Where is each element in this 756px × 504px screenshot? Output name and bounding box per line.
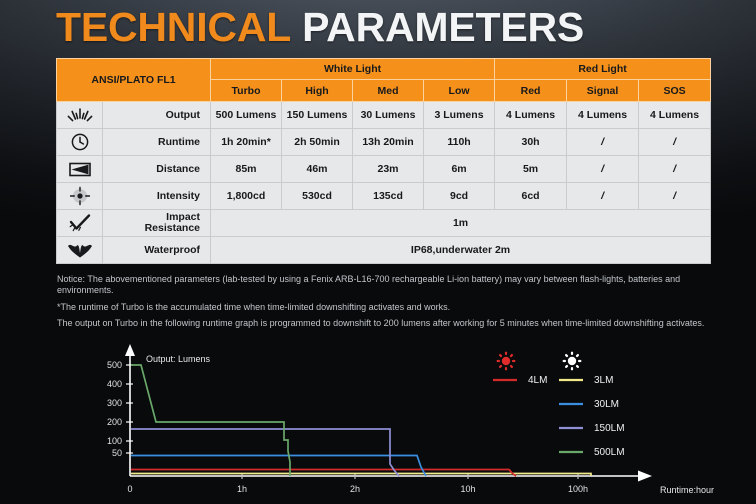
row-label-runtime: Runtime (103, 129, 211, 156)
impact-resistance-icon (57, 210, 103, 237)
white-sun-icon (563, 352, 582, 371)
cell-runtime-signal: / (567, 129, 639, 156)
y-tick-400: 400 (107, 379, 122, 389)
cell-intensity-turbo: 1,800cd (211, 183, 282, 210)
cell-distance-signal: / (567, 156, 639, 183)
cell-intensity-med: 135cd (353, 183, 424, 210)
notice-line-3: The output on Turbo in the following run… (57, 318, 713, 329)
column-header-signal: Signal (567, 80, 639, 102)
cell-intensity-signal: / (567, 183, 639, 210)
title-part-technical: TECHNICAL (56, 4, 291, 50)
cell-intensity-high: 530cd (282, 183, 353, 210)
y-tick-500: 500 (107, 360, 122, 370)
cell-impact-resistance-value: 1m (211, 210, 711, 237)
column-header-turbo: Turbo (211, 80, 282, 102)
table-row: Waterproof IP68,underwater 2m (57, 237, 711, 264)
row-label-impact-resistance: Impact Resistance (103, 210, 211, 237)
y-tick-200: 200 (107, 417, 122, 427)
cell-distance-sos: / (639, 156, 711, 183)
y-tick-300: 300 (107, 398, 122, 408)
cell-output-sos: 4 Lumens (639, 102, 711, 129)
cell-output-turbo: 500 Lumens (211, 102, 282, 129)
cell-intensity-red: 6cd (495, 183, 567, 210)
cell-runtime-high: 2h 50min (282, 129, 353, 156)
cell-intensity-low: 9cd (424, 183, 495, 210)
cell-distance-red: 5m (495, 156, 567, 183)
cell-distance-med: 23m (353, 156, 424, 183)
table-row: Runtime 1h 20min* 2h 50min 13h 20min 110… (57, 129, 711, 156)
corner-label: ANSI/PLATO FL1 (57, 59, 211, 102)
column-header-high: High (282, 80, 353, 102)
row-label-waterproof: Waterproof (103, 237, 211, 264)
notice-line-2: *The runtime of Turbo is the accumulated… (57, 302, 713, 313)
column-header-med: Med (353, 80, 424, 102)
cell-output-signal: 4 Lumens (567, 102, 639, 129)
x-tick-1h: 1h (237, 484, 247, 494)
chart-series-500lm (131, 365, 290, 476)
intensity-crosshair-icon (57, 183, 103, 210)
red-sun-icon (497, 352, 516, 371)
table-group-header-row: ANSI/PLATO FL1 White Light Red Light (57, 59, 711, 80)
row-label-intensity: Intensity (103, 183, 211, 210)
notice-block: Notice: The abovementioned parameters (l… (57, 274, 713, 334)
y-tick-50: 50 (112, 448, 122, 458)
legend-label-3lm: 3LM (594, 375, 613, 386)
chart-y-axis-title: Output: Lumens (146, 354, 211, 364)
legend-label-30lm: 30LM (594, 399, 619, 410)
x-tick-0: 0 (127, 484, 132, 494)
legend-label-4lm: 4LM (528, 375, 547, 386)
beam-distance-icon (57, 156, 103, 183)
runtime-chart: 500 400 300 200 100 50 0 1h 2h 10h 100h … (0, 336, 756, 504)
cell-output-med: 30 Lumens (353, 102, 424, 129)
chart-x-axis-title: Runtime:hour (660, 485, 714, 495)
waterproof-icon (57, 237, 103, 264)
table-row: Distance 85m 46m 23m 6m 5m / / (57, 156, 711, 183)
x-tick-100h: 100h (568, 484, 588, 494)
impact-label-line2: Resistance (145, 223, 200, 234)
table-row: Impact Resistance 1m (57, 210, 711, 237)
cell-distance-turbo: 85m (211, 156, 282, 183)
row-label-output: Output (103, 102, 211, 129)
legend-label-150lm: 150LM (594, 423, 625, 434)
cell-waterproof-value: IP68,underwater 2m (211, 237, 711, 264)
row-label-distance: Distance (103, 156, 211, 183)
cell-runtime-sos: / (639, 129, 711, 156)
table-row: Intensity 1,800cd 530cd 135cd 9cd 6cd / … (57, 183, 711, 210)
cell-runtime-red: 30h (495, 129, 567, 156)
spec-table-container: ANSI/PLATO FL1 White Light Red Light Tur… (56, 58, 710, 264)
cell-distance-high: 46m (282, 156, 353, 183)
cell-output-low: 3 Lumens (424, 102, 495, 129)
table-row: Output 500 Lumens 150 Lumens 30 Lumens 3… (57, 102, 711, 129)
technical-parameters-page: TECHNICALPARAMETERS ANSI/PLATO FL1 White… (0, 0, 756, 504)
cell-runtime-low: 110h (424, 129, 495, 156)
group-header-red-light: Red Light (495, 59, 711, 80)
x-tick-2h: 2h (350, 484, 360, 494)
column-header-sos: SOS (639, 80, 711, 102)
cell-output-red: 4 Lumens (495, 102, 567, 129)
column-header-low: Low (424, 80, 495, 102)
title-part-parameters: PARAMETERS (302, 4, 584, 50)
notice-line-1: Notice: The abovementioned parameters (l… (57, 274, 713, 297)
cell-runtime-turbo: 1h 20min* (211, 129, 282, 156)
cell-intensity-sos: / (639, 183, 711, 210)
clock-icon (57, 129, 103, 156)
x-tick-10h: 10h (460, 484, 475, 494)
cell-distance-low: 6m (424, 156, 495, 183)
light-burst-icon (57, 102, 103, 129)
cell-output-high: 150 Lumens (282, 102, 353, 129)
chart-legend: 4LM 3LM 30LM 150LM 500LM (493, 352, 625, 458)
group-header-white-light: White Light (211, 59, 495, 80)
spec-table: ANSI/PLATO FL1 White Light Red Light Tur… (56, 58, 711, 264)
column-header-red: Red (495, 80, 567, 102)
legend-label-500lm: 500LM (594, 447, 625, 458)
cell-runtime-med: 13h 20min (353, 129, 424, 156)
chart-y-ticks: 500 400 300 200 100 50 (107, 360, 133, 458)
y-tick-100: 100 (107, 436, 122, 446)
page-title: TECHNICALPARAMETERS (56, 2, 584, 52)
